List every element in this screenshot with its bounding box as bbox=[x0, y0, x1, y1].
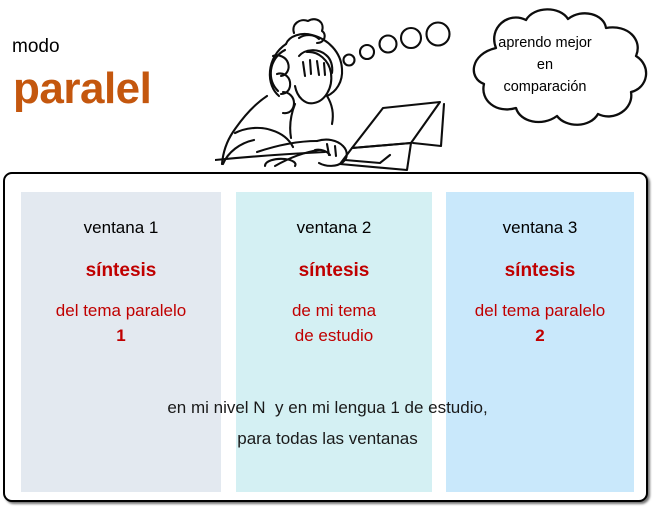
synthesis-description-text-1: del tema paralelo bbox=[56, 301, 186, 320]
window-column-3-content: ventana 3 síntesis del tema paralelo 2 bbox=[446, 192, 634, 348]
synthesis-description-1: del tema paralelo 1 bbox=[21, 298, 221, 348]
window-column-3[interactable]: ventana 3 síntesis del tema paralelo 2 bbox=[446, 192, 634, 492]
window-label-3: ventana 3 bbox=[446, 218, 634, 238]
synthesis-emphasis-3: 2 bbox=[446, 323, 634, 348]
synthesis-description-text-2: de mi tema bbox=[292, 301, 376, 320]
bubble-line-2: en bbox=[537, 57, 553, 73]
bubble-line-3: comparación bbox=[503, 79, 586, 95]
header: modo paralel bbox=[0, 0, 657, 172]
window-column-1[interactable]: ventana 1 síntesis del tema paralelo 1 bbox=[21, 192, 221, 492]
synthesis-label-2: síntesis bbox=[236, 260, 432, 282]
synthesis-description-3: del tema paralelo 2 bbox=[446, 298, 634, 348]
synthesis-emphasis-2: de estudio bbox=[236, 323, 432, 348]
window-column-2-content: ventana 2 síntesis de mi tema de estudio bbox=[236, 192, 432, 348]
mode-label: modo bbox=[12, 36, 60, 58]
window-column-1-content: ventana 1 síntesis del tema paralelo 1 bbox=[21, 192, 221, 348]
synthesis-label-1: síntesis bbox=[21, 260, 221, 282]
page-title: paralel bbox=[13, 64, 151, 114]
synthesis-emphasis-1: 1 bbox=[21, 323, 221, 348]
thought-bubble-text: aprendo mejor en comparación bbox=[470, 32, 620, 98]
windows-panel: ventana 1 síntesis del tema paralelo 1 v… bbox=[3, 172, 648, 502]
synthesis-label-3: síntesis bbox=[446, 260, 634, 282]
window-label-1: ventana 1 bbox=[21, 218, 221, 238]
window-label-2: ventana 2 bbox=[236, 218, 432, 238]
synthesis-description-2: de mi tema de estudio bbox=[236, 298, 432, 348]
synthesis-description-text-3: del tema paralelo bbox=[475, 301, 605, 320]
bubble-line-1: aprendo mejor bbox=[498, 35, 592, 51]
window-column-2[interactable]: ventana 2 síntesis de mi tema de estudio bbox=[236, 192, 432, 492]
